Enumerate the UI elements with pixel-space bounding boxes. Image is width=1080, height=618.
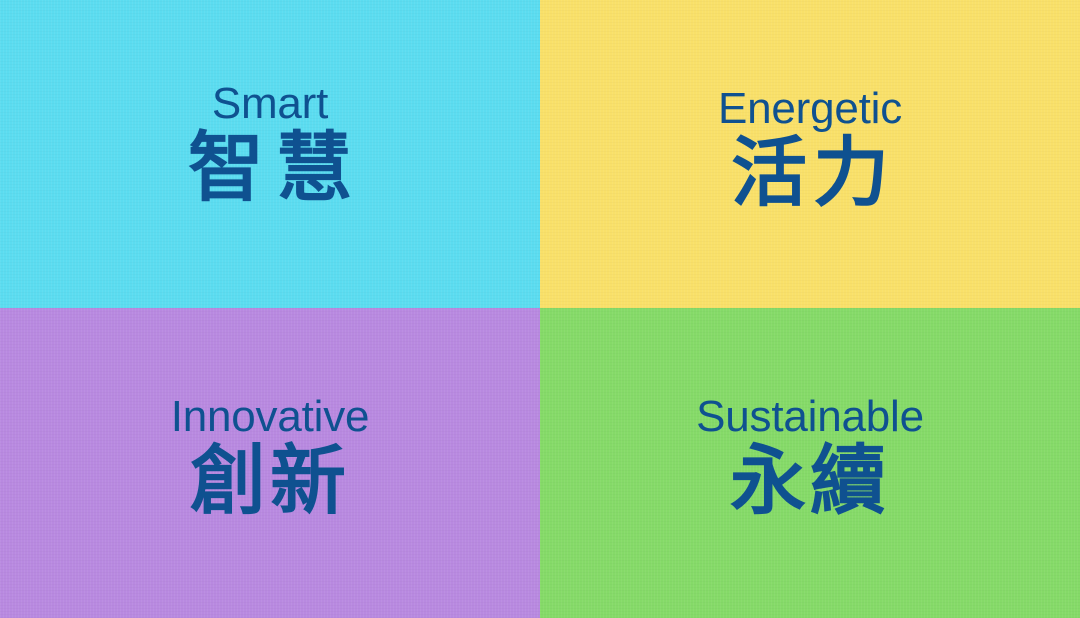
quadrant-sustainable-label-en: Sustainable: [696, 395, 924, 439]
brand-values-poster: Smart 智慧 Energetic 活力 Innovative 創新 Sust…: [0, 0, 1080, 618]
quadrant-energetic[interactable]: Energetic 活力: [540, 0, 1080, 308]
quadrant-sustainable-content: Sustainable 永續: [696, 395, 924, 519]
quadrant-innovative[interactable]: Innovative 創新: [0, 308, 540, 618]
quadrant-smart-label-zh: 智慧: [176, 130, 364, 206]
quadrant-smart-label-en: Smart: [212, 82, 328, 126]
quadrant-energetic-content: Energetic 活力: [718, 87, 902, 211]
quadrant-smart-content: Smart 智慧: [176, 82, 364, 206]
quadrant-grid: Smart 智慧 Energetic 活力 Innovative 創新 Sust…: [0, 0, 1080, 618]
quadrant-energetic-label-zh: 活力: [725, 135, 895, 211]
quadrant-innovative-label-en: Innovative: [171, 395, 370, 439]
quadrant-innovative-label-zh: 創新: [190, 443, 350, 519]
quadrant-sustainable[interactable]: Sustainable 永續: [540, 308, 1080, 618]
quadrant-smart[interactable]: Smart 智慧: [0, 0, 540, 308]
quadrant-energetic-label-en: Energetic: [718, 87, 902, 131]
quadrant-innovative-content: Innovative 創新: [171, 395, 370, 519]
quadrant-sustainable-label-zh: 永續: [730, 443, 890, 519]
